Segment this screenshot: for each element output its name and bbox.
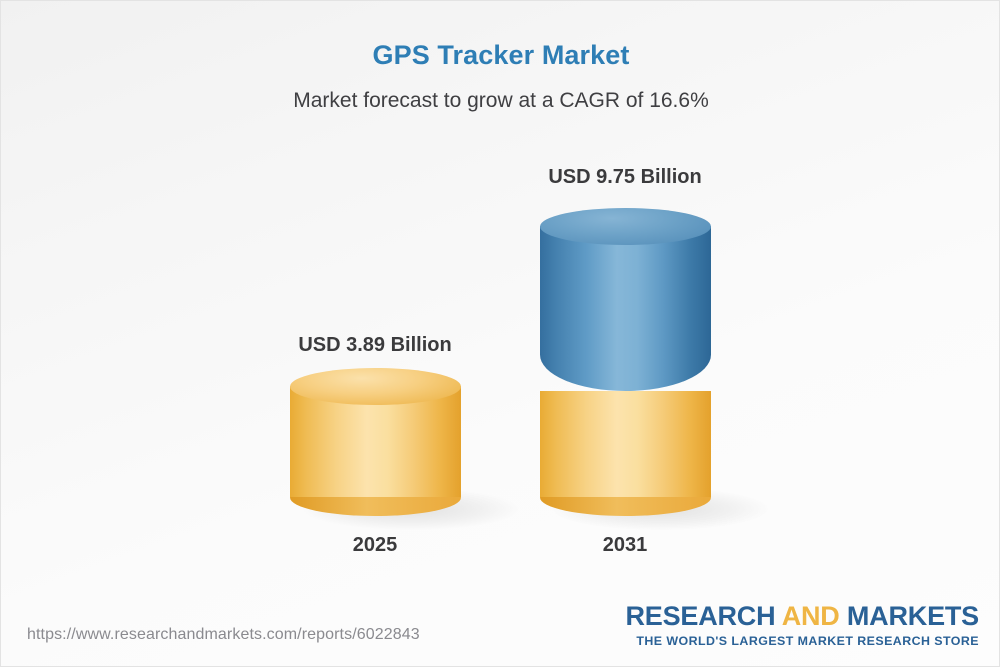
cylinder-top-ellipse-2025	[290, 368, 461, 405]
cylinder-top-ellipse-2031	[540, 208, 711, 245]
category-label-2031: 2031	[465, 534, 785, 557]
plot-area: USD 3.89 Billion 2025 USD 9.75 Billion	[1, 1, 1000, 601]
cylinder-segment-growth-2031	[540, 226, 711, 391]
logo-tagline: THE WORLD'S LARGEST MARKET RESEARCH STOR…	[625, 635, 979, 647]
value-label-2031: USD 9.75 Billion	[465, 166, 785, 189]
logo-research-text: RESEARCH	[625, 601, 781, 631]
source-url[interactable]: https://www.researchandmarkets.com/repor…	[27, 626, 420, 644]
footer: https://www.researchandmarkets.com/repor…	[1, 594, 1000, 666]
brand-logo[interactable]: RESEARCH AND MARKETS THE WORLD'S LARGEST…	[625, 603, 979, 647]
logo-and-text: AND	[782, 601, 847, 631]
cylinder-2025[interactable]	[290, 368, 461, 516]
logo-markets-text: MARKETS	[847, 601, 979, 631]
cylinder-2031[interactable]	[540, 208, 711, 516]
chart-canvas: GPS Tracker Market Market forecast to gr…	[0, 0, 1000, 667]
cylinder-segment-base-2031	[540, 391, 711, 497]
logo-wordmark: RESEARCH AND MARKETS	[625, 603, 979, 630]
bar-group-2031[interactable]: USD 9.75 Billion 2031	[465, 1, 785, 601]
